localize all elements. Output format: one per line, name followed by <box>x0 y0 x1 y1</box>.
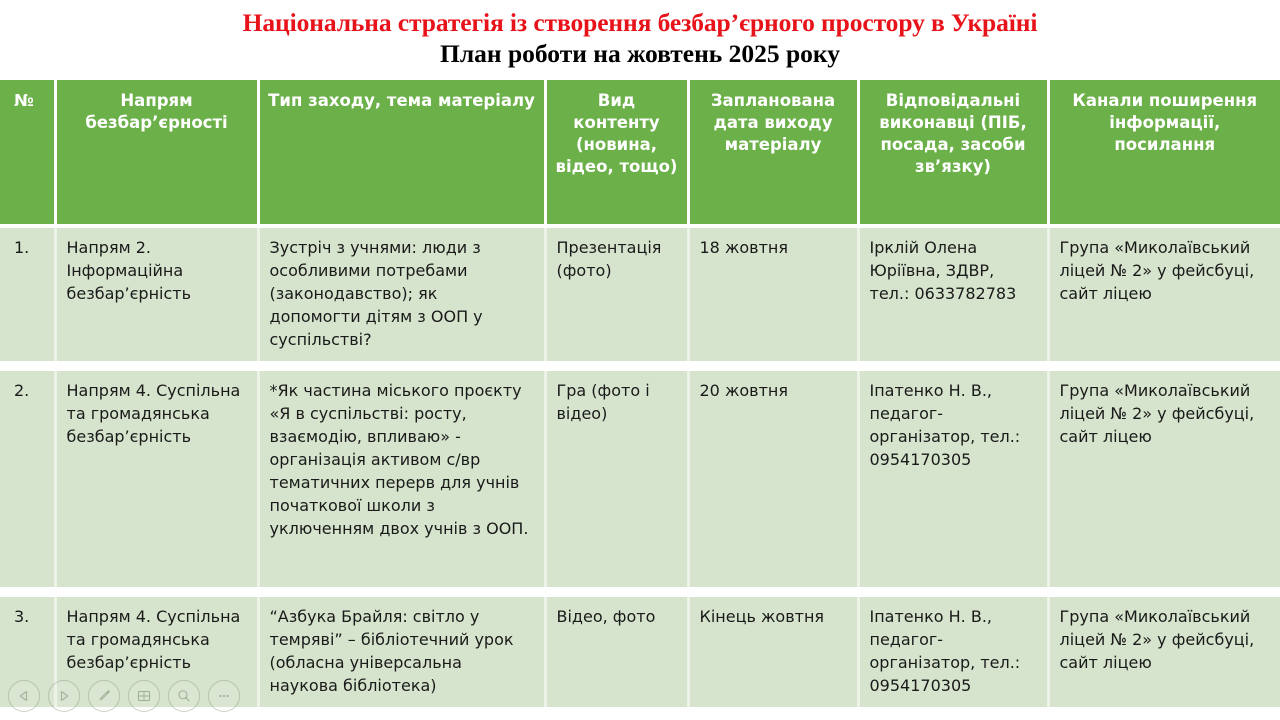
cell-event-type: Зустріч з учнями: люди з особливими потр… <box>258 226 545 366</box>
previous-slide-icon <box>17 689 31 703</box>
zoom-icon <box>176 688 192 704</box>
cell-planned-date: 18 жовтня <box>688 226 858 366</box>
page-title: Національна стратегія із створення безба… <box>0 8 1280 38</box>
next-slide-icon <box>57 689 71 703</box>
column-header-channels: Канали поширення інформації, посилання <box>1048 80 1280 226</box>
pen-tools-button[interactable] <box>88 680 120 712</box>
column-header-number: № <box>0 80 55 226</box>
more-options-button[interactable] <box>208 680 240 712</box>
column-header-planned-date: Запланована дата виходу матеріалу <box>688 80 858 226</box>
cell-direction: Напрям 2. Інформаційна безбар’єрність <box>55 226 258 366</box>
cell-planned-date: 20 жовтня <box>688 366 858 592</box>
presentation-controls-bar <box>8 680 240 712</box>
table-header: № Напрям безбар’єрності Тип заходу, тема… <box>0 80 1280 226</box>
all-slides-button[interactable] <box>128 680 160 712</box>
column-header-event-type: Тип заходу, тема матеріалу <box>258 80 545 226</box>
cell-channels: Група «Миколаївський ліцей № 2» у фейсбу… <box>1048 226 1280 366</box>
more-options-icon <box>216 688 232 704</box>
cell-channels: Група «Миколаївський ліцей № 2» у фейсбу… <box>1048 366 1280 592</box>
table-row: 2. Напрям 4. Суспільна та громадянська б… <box>0 366 1280 592</box>
zoom-button[interactable] <box>168 680 200 712</box>
column-header-content-type: Вид контенту (новина, відео, тощо) <box>545 80 688 226</box>
cell-row-number: 2. <box>0 366 55 592</box>
cell-row-number: 1. <box>0 226 55 366</box>
work-plan-table: № Напрям безбар’єрності Тип заходу, тема… <box>0 80 1280 717</box>
cell-responsible: Іпатенко Н. В., педагог-організатор, тел… <box>858 366 1048 592</box>
next-slide-button[interactable] <box>48 680 80 712</box>
all-slides-icon <box>136 688 152 704</box>
page-subtitle: План роботи на жовтень 2025 року <box>0 38 1280 69</box>
cell-responsible: Іпатенко Н. В., педагог-організатор, тел… <box>858 592 1048 712</box>
cell-content-type: Презентація (фото) <box>545 226 688 366</box>
column-header-responsible: Відповідальні виконавці (ПІБ, посада, за… <box>858 80 1048 226</box>
cell-responsible: Ірклій Олена Юріївна, ЗДВР, тел.: 063378… <box>858 226 1048 366</box>
pen-icon <box>96 688 112 704</box>
previous-slide-button[interactable] <box>8 680 40 712</box>
table-header-row: № Напрям безбар’єрності Тип заходу, тема… <box>0 80 1280 226</box>
cell-content-type: Гра (фото і відео) <box>545 366 688 592</box>
table-body: 1. Напрям 2. Інформаційна безбар’єрність… <box>0 226 1280 712</box>
cell-channels: Група «Миколаївський ліцей № 2» у фейсбу… <box>1048 592 1280 712</box>
cell-content-type: Відео, фото <box>545 592 688 712</box>
cell-event-type: *Як частина міського проєкту «Я в суспіл… <box>258 366 545 592</box>
cell-event-type: “Азбука Брайля: світло у темряві” – бібл… <box>258 592 545 712</box>
slide-title-block: Національна стратегія із створення безба… <box>0 0 1280 69</box>
cell-planned-date: Кінець жовтня <box>688 592 858 712</box>
cell-direction: Напрям 4. Суспільна та громадянська безб… <box>55 366 258 592</box>
column-header-direction: Напрям безбар’єрності <box>55 80 258 226</box>
table-row: 1. Напрям 2. Інформаційна безбар’єрність… <box>0 226 1280 366</box>
